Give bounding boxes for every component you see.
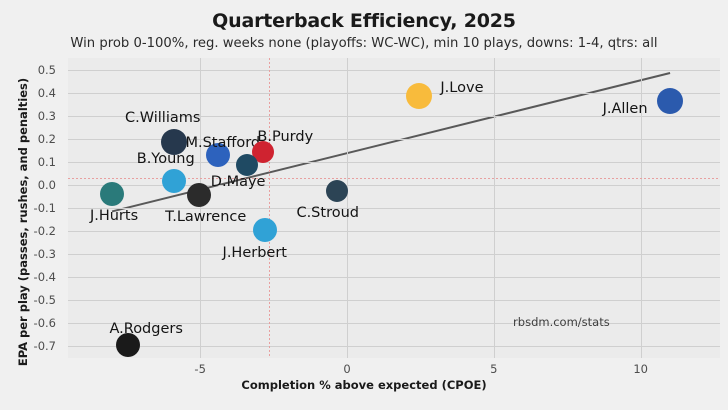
gridline-vertical	[494, 58, 495, 358]
x-axis-label: Completion % above expected (CPOE)	[0, 378, 728, 392]
scatter-point-label: C.Stroud	[296, 205, 359, 221]
y-axis-tick-label: 0.2	[12, 132, 56, 146]
scatter-point-label: J.Herbert	[223, 245, 287, 261]
y-axis-tick-label: -0.6	[12, 316, 56, 330]
scatter-point[interactable]	[326, 180, 348, 202]
gridline-horizontal	[68, 300, 720, 301]
y-axis-tick-label: -0.5	[12, 293, 56, 307]
scatter-point[interactable]	[406, 83, 432, 109]
y-axis-tick-label: 0.4	[12, 86, 56, 100]
scatter-point-label: T.Lawrence	[165, 209, 246, 225]
scatter-point-label: B.Young	[137, 151, 195, 167]
scatter-point[interactable]	[236, 154, 258, 176]
scatter-point-label: J.Allen	[603, 101, 648, 117]
x-axis-tick-label: 5	[474, 362, 514, 376]
y-axis-tick-label: -0.3	[12, 247, 56, 261]
scatter-point[interactable]	[253, 218, 277, 242]
chart-root: Quarterback Efficiency, 2025 Win prob 0-…	[0, 0, 728, 410]
scatter-point-label: J.Hurts	[90, 208, 138, 224]
scatter-point-label: J.Love	[440, 80, 483, 96]
y-axis-tick-label: 0.5	[12, 63, 56, 77]
page-title: Quarterback Efficiency, 2025	[0, 10, 728, 32]
scatter-point-label: A.Rodgers	[109, 321, 182, 337]
x-axis-tick-label: 10	[621, 362, 661, 376]
scatter-point[interactable]	[100, 182, 124, 206]
scatter-point[interactable]	[162, 169, 186, 193]
scatter-point-label: M.Stafford	[185, 135, 260, 151]
scatter-point-label: C.Williams	[125, 110, 200, 126]
y-axis-tick-label: -0.1	[12, 201, 56, 215]
gridline-horizontal	[68, 93, 720, 94]
y-axis-tick-label: 0.1	[12, 155, 56, 169]
plot-panel: 0.50.40.30.20.10.0-0.1-0.2-0.3-0.4-0.5-0…	[68, 58, 720, 358]
y-axis-tick-label: 0.3	[12, 109, 56, 123]
chart-subtitle: Win prob 0-100%, reg. weeks none (playof…	[0, 36, 728, 51]
x-axis-tick-label: 0	[327, 362, 367, 376]
gridline-horizontal	[68, 231, 720, 232]
y-axis-tick-label: -0.4	[12, 270, 56, 284]
gridline-horizontal	[68, 70, 720, 71]
reference-line-vertical	[269, 58, 270, 358]
watermark: rbsdm.com/stats	[513, 315, 610, 329]
gridline-horizontal	[68, 346, 720, 347]
x-axis-tick-label: -5	[180, 362, 220, 376]
y-axis-tick-label: -0.2	[12, 224, 56, 238]
gridline-horizontal	[68, 254, 720, 255]
gridline-horizontal	[68, 277, 720, 278]
scatter-point[interactable]	[187, 183, 211, 207]
y-axis-tick-label: -0.7	[12, 339, 56, 353]
scatter-point[interactable]	[657, 88, 683, 114]
scatter-point-label: B.Purdy	[257, 129, 313, 145]
y-axis-tick-label: 0.0	[12, 178, 56, 192]
scatter-point-label: D.Maye	[211, 174, 266, 190]
